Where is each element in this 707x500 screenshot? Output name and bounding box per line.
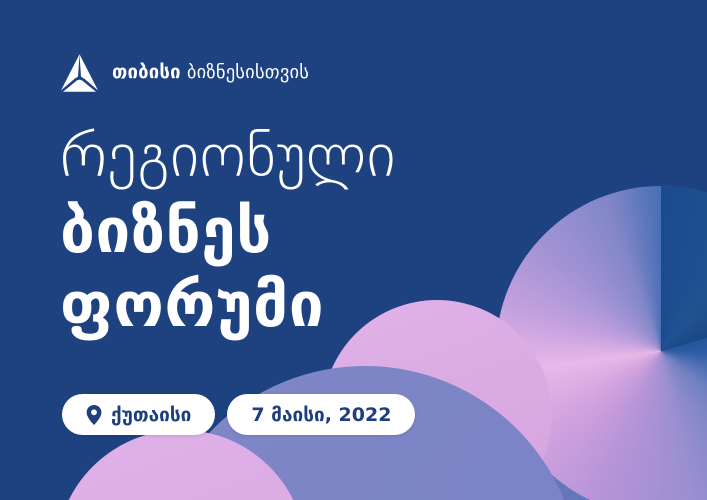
brand-name-bold: თიბისი [112, 62, 181, 83]
headline-line-2: ბიზნეს [60, 200, 396, 262]
brand-logo-text: თიბისი ბიზნესისთვის [112, 64, 309, 83]
event-meta-badges: ქუთაისი 7 მაისი, 2022 [62, 394, 415, 435]
banner-content: თიბისი ბიზნესისთვის რეგიონული ბიზნეს ფორ… [0, 0, 707, 500]
tbc-triangle-logo-icon [58, 53, 101, 93]
headline-line-1: რეგიონული [60, 124, 396, 186]
date-badge-label: 7 მაისი, 2022 [251, 404, 391, 426]
date-badge[interactable]: 7 მაისი, 2022 [227, 394, 415, 435]
headline-line-3: ფორუმი [60, 274, 396, 336]
brand-logo[interactable]: თიბისი ბიზნესისთვის [58, 53, 309, 93]
location-badge[interactable]: ქუთაისი [62, 394, 215, 435]
location-pin-icon [86, 405, 102, 425]
event-banner: თიბისი ბიზნესისთვის რეგიონული ბიზნეს ფორ… [0, 0, 707, 500]
brand-name-regular: ბიზნესისთვის [187, 62, 309, 83]
location-badge-label: ქუთაისი [111, 404, 191, 426]
page-title: რეგიონული ბიზნეს ფორუმი [60, 124, 396, 336]
